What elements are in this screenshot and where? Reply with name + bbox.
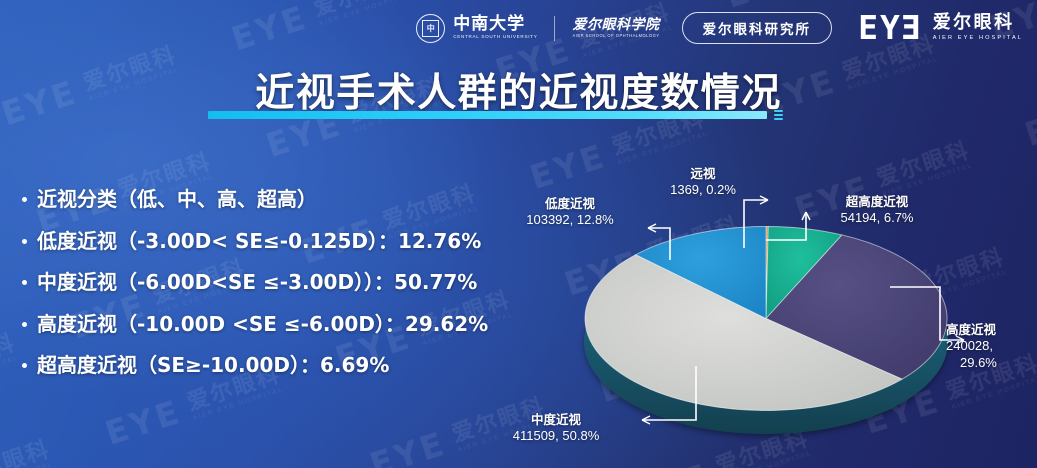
university-name-en: CENTRAL SOUTH UNIVERSITY [453, 35, 537, 40]
pie-label-hyperopia: 远视 1369, 0.2% [648, 166, 758, 198]
bullet-text: 超高度近视（SE≥-10.00D）：6.69% [37, 354, 389, 378]
pie-label-low-myopia-name: 低度近视 [500, 196, 640, 211]
pie-label-hyperopia-name: 远视 [648, 166, 758, 181]
watermark-eye-icon: EYE [630, 457, 715, 468]
title-underline-row [208, 110, 783, 120]
bullet-item-0: 近视分类（低、中、高、超高） [18, 188, 578, 212]
pie-label-low-myopia: 低度近视 103392, 12.8% [500, 196, 640, 228]
pie-label-moderate-myopia-name: 中度近视 [476, 412, 636, 427]
watermark-tile: EYE爱尔眼科AIER EYE HOSPITAL [0, 436, 56, 468]
brand-name-en: AIER EYE HOSPITAL [933, 36, 1023, 42]
bullet-dot-icon [22, 322, 27, 327]
bullet-dot-icon [22, 239, 27, 244]
pie-label-high-myopia-count: 240028, [946, 338, 1037, 354]
watermark-tile: EYE爱尔眼科AIER EYE HOSPITAL [894, 456, 1037, 468]
university-seal-icon: 中 [416, 14, 445, 43]
pie-chart-surface: 远视超高度近视高度近视中度近视低度近视 [584, 226, 948, 411]
bullet-text: 近视分类（低、中、高、超高） [37, 188, 317, 212]
bullet-text: 低度近视（-3.00D< SE≤-0.125D）：12.76% [37, 230, 481, 254]
watermark-eye-icon: EYE [100, 394, 185, 454]
bullet-text: 高度近视（-10.00D <SE ≤-6.00D）：29.62% [37, 313, 488, 337]
pie-label-moderate-myopia-value: 411509, 50.8% [476, 428, 636, 444]
pie-label-high-myopia-name: 高度近视 [946, 322, 1037, 337]
bullet-item-4: 超高度近视（SE≥-10.00D）：6.69% [18, 354, 578, 378]
pie-label-low-myopia-value: 103392, 12.8% [500, 212, 640, 228]
bullet-list: 近视分类（低、中、高、超高）低度近视（-3.00D< SE≤-0.125D）：1… [18, 188, 578, 396]
logo-aier-eye-institute: 爱尔眼科研究所 [682, 12, 833, 44]
slide-root: EYE爱尔眼科AIER EYE HOSPITALEYE爱尔眼科AIER EYE … [0, 0, 1037, 468]
bullet-item-1: 低度近视（-3.00D< SE≤-0.125D）：12.76% [18, 230, 578, 254]
pie-chart-stage: 远视超高度近视高度近视中度近视低度近视 [584, 226, 948, 441]
university-name-block: 中南大学 CENTRAL SOUTH UNIVERSITY [453, 16, 537, 40]
bullet-dot-icon [22, 280, 27, 285]
school-name-block: 爱尔眼科学院 AIER SCHOOL OF OPHTHALMOLOGY [572, 18, 659, 39]
watermark-eye-icon: EYE [365, 426, 450, 468]
slide-header: 中 中南大学 CENTRAL SOUTH UNIVERSITY 爱尔眼科学院 A… [0, 0, 1037, 56]
title-underline-bar [208, 111, 767, 119]
school-name-cn: 爱尔眼科学院 [572, 18, 659, 32]
brand-name-cn: 爱尔眼科 [933, 14, 1023, 32]
bullet-dot-icon [22, 363, 27, 368]
pie-label-moderate-myopia: 中度近视 411509, 50.8% [476, 412, 636, 444]
eye-glyph-e: E [858, 15, 877, 41]
pie-chart: 远视超高度近视高度近视中度近视低度近视 [556, 150, 1026, 450]
title-dashes-icon [774, 110, 783, 120]
pie-label-high-myopia: 高度近视 240028, 29.6% [946, 322, 1037, 371]
bullet-item-3: 高度近视（-10.00D <SE ≤-6.00D）：29.62% [18, 313, 578, 337]
pie-label-extreme-myopia-name: 超高度近视 [812, 194, 942, 209]
pie-label-extreme-myopia: 超高度近视 54194, 6.7% [812, 194, 942, 226]
brand-name-block: 爱尔眼科 AIER EYE HOSPITAL [933, 14, 1023, 41]
eye-glyph-e-mirrored: E [902, 15, 921, 41]
logo-aier-eye-hospital: E Y E 爱尔眼科 AIER EYE HOSPITAL [858, 14, 1023, 41]
university-seal-inner: 中 [422, 20, 439, 37]
university-name-cn: 中南大学 [453, 16, 537, 33]
watermark-brand: 爱尔眼科AIER EYE HOSPITAL [0, 439, 55, 468]
bullet-dot-icon [22, 197, 27, 202]
pie-label-hyperopia-value: 1369, 0.2% [648, 182, 758, 198]
watermark-brand: 爱尔眼科AIER EYE HOSPITAL [978, 460, 1037, 468]
school-name-en: AIER SCHOOL OF OPHTHALMOLOGY [572, 34, 659, 38]
bullet-text: 中度近视（-6.00D<SE ≤-3.00D））：50.77% [37, 271, 477, 295]
bullet-item-2: 中度近视（-6.00D<SE ≤-3.00D））：50.77% [18, 271, 578, 295]
pie-label-extreme-myopia-value: 54194, 6.7% [812, 210, 942, 226]
eye-wordmark-icon: E Y E [858, 15, 921, 41]
logo-divider [554, 16, 555, 41]
pie-label-high-myopia-percent: 29.6% [960, 355, 1037, 371]
logo-central-south-university: 中 中南大学 CENTRAL SOUTH UNIVERSITY 爱尔眼科学院 A… [416, 14, 659, 43]
eye-glyph-y: Y [880, 15, 899, 41]
